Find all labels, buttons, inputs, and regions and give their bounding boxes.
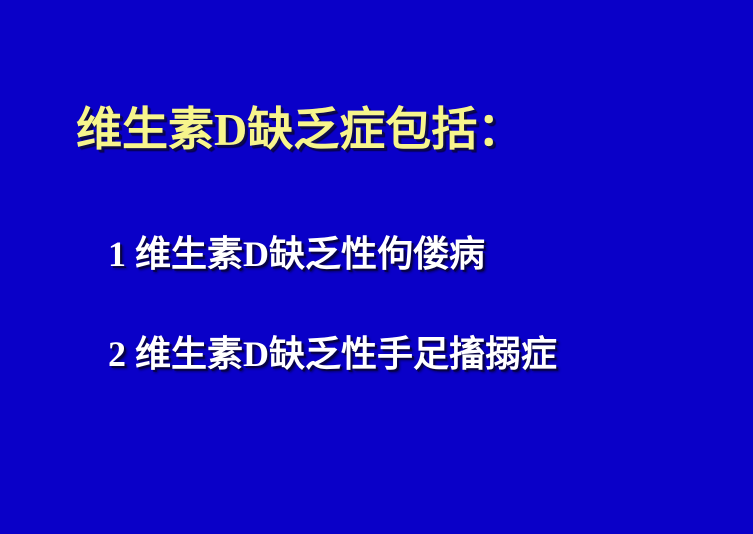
list-item-number: 1	[108, 234, 126, 275]
list-item-label: 维生素D缺乏性手足搐搦症	[135, 334, 557, 375]
list-item-number: 2	[108, 334, 126, 375]
list-item: 2维生素D缺乏性手足搐搦症	[108, 334, 557, 375]
list-item-label: 维生素D缺乏性佝偻病	[135, 234, 485, 275]
bullet-list: 1维生素D缺乏性佝偻病 2维生素D缺乏性手足搐搦症	[0, 0, 753, 534]
presentation-slide: 维生素D缺乏症包括： 1维生素D缺乏性佝偻病 2维生素D缺乏性手足搐搦症	[0, 0, 753, 534]
list-item: 1维生素D缺乏性佝偻病	[108, 234, 485, 275]
